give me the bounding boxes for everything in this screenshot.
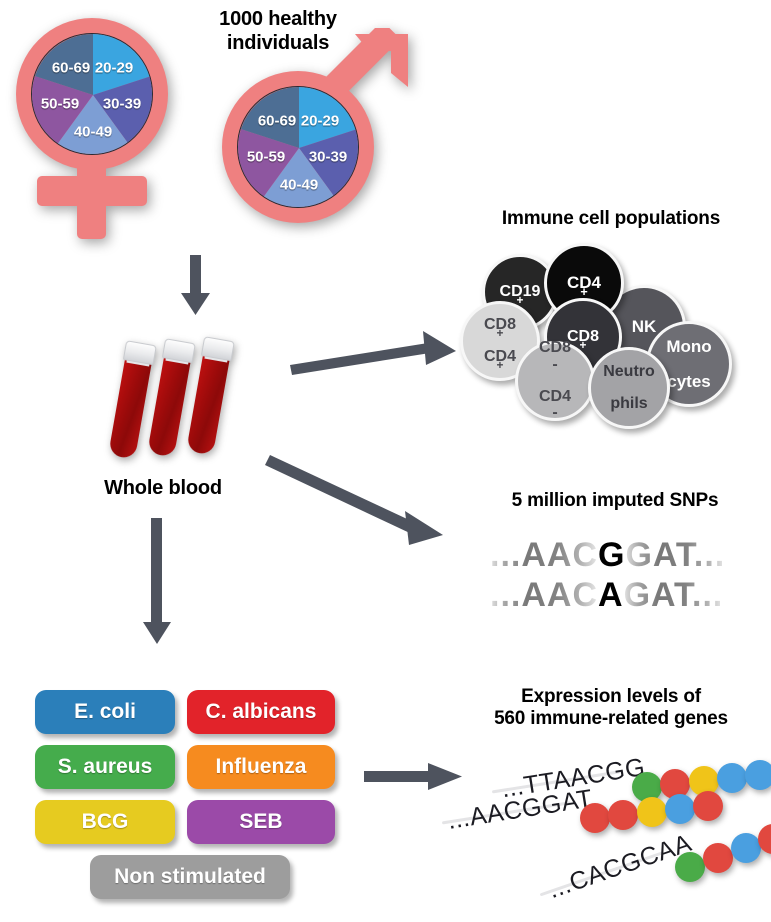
expression-title-line1: Expression levels of (451, 686, 771, 708)
stimulus-influenza-label: Influenza (215, 755, 306, 779)
immune-cell-nk-label: NK (632, 318, 657, 335)
male-age-pie: 20-29 30-39 40-49 50-59 60-69 (237, 86, 359, 208)
blood-tube-body (186, 350, 230, 455)
immune-cell-monocytes-label1: Mono (666, 338, 711, 355)
stimulus-seb-label: SEB (239, 810, 282, 834)
expression-strand-3: ...CACGCAA (535, 829, 695, 908)
immune-cell-monocytes-label2: cytes (666, 373, 711, 390)
arrow-cohort-to-blood (178, 255, 218, 317)
female-age-pie-svg (32, 34, 153, 155)
strand-3-sequence: ...CACGCAA (545, 829, 695, 904)
snp-sequence-row-1: ...AACGGAT... (490, 536, 725, 575)
expression-dot (717, 763, 747, 793)
immune-cell-cd8-cd4-neg-sup1: - (539, 357, 571, 373)
immune-cell-cd8-cd4-neg-label1: CD8 (539, 340, 571, 356)
expression-dot (665, 794, 695, 824)
immune-cell-cd8-cd4-neg-sup2: - (539, 405, 571, 421)
snp-title: 5 million imputed SNPs (470, 490, 760, 512)
expression-dot (675, 852, 705, 882)
snp-row1-prefix: ...AAC (490, 536, 598, 574)
stimulus-bcg-label: BCG (82, 810, 129, 834)
immune-cell-cd8-cd4-neg-label2: CD4 (539, 389, 571, 405)
snp-row1-suffix: GAT... (625, 536, 725, 574)
snp-row1-variant: G (598, 536, 625, 574)
stimulus-influenza[interactable]: Influenza (187, 745, 335, 789)
expression-dot (745, 760, 771, 790)
male-symbol: 20-29 30-39 40-49 50-59 60-69 (205, 28, 410, 238)
stimulus-saureus-label: S. aureus (58, 755, 153, 779)
immune-cell-neutrophils: Neutro phils (588, 347, 670, 429)
arrow-blood-to-snps (270, 455, 455, 550)
immune-cell-cd8-cd4-neg: CD8- CD4- (515, 341, 595, 421)
expression-dot (637, 797, 667, 827)
expression-dot (608, 800, 638, 830)
immune-cell-neutrophils-label2: phils (603, 396, 655, 412)
stimulus-calbicans[interactable]: C. albicans (187, 690, 335, 734)
stimulus-non-stimulated[interactable]: Non stimulated (90, 855, 290, 899)
expression-strands-group: ...TTAACGG ...AACGGAT ...CACGCAA (440, 745, 771, 915)
expression-title: Expression levels of 560 immune-related … (451, 686, 771, 731)
snp-row2-suffix: GAT... (624, 576, 724, 614)
immune-cell-neutrophils-label1: Neutro (603, 364, 655, 380)
female-symbol: 20-29 30-39 40-49 50-59 60-69 (8, 14, 178, 244)
expression-dot (703, 843, 733, 873)
arrow-blood-to-stimuli (140, 518, 174, 646)
female-symbol-crossbar (37, 176, 147, 206)
whole-blood-label: Whole blood (83, 477, 243, 501)
stimulus-bcg[interactable]: BCG (35, 800, 175, 844)
expression-dot (693, 791, 723, 821)
snp-row2-variant: A (598, 576, 624, 614)
snp-row2-prefix: ...AAC (490, 576, 598, 614)
expression-title-line2: 560 immune-related genes (451, 708, 771, 730)
arrow-blood-to-immune (290, 325, 460, 375)
stimulus-seb[interactable]: SEB (187, 800, 335, 844)
expression-dot (580, 803, 610, 833)
stimulus-non-stimulated-label: Non stimulated (114, 865, 266, 889)
immune-cell-group: NK CD19+ CD4+ CD8+ CD4+ CD8+ Mono cytes … (460, 243, 760, 428)
female-age-pie: 20-29 30-39 40-49 50-59 60-69 (31, 33, 153, 155)
stimulus-calbicans-label: C. albicans (206, 700, 317, 724)
male-age-pie-svg (238, 87, 359, 208)
figure-canvas: 1000 healthy individuals 20-29 30-39 40-… (0, 0, 771, 922)
stimulus-ecoli-label: E. coli (74, 700, 136, 724)
immune-cell-title: Immune cell populations (456, 208, 766, 230)
expression-dot (731, 833, 761, 863)
stimulus-ecoli[interactable]: E. coli (35, 690, 175, 734)
stimulus-saureus[interactable]: S. aureus (35, 745, 175, 789)
snp-sequence-row-2: ...AACAGAT... (490, 576, 723, 615)
blood-tubes-group (108, 330, 258, 475)
